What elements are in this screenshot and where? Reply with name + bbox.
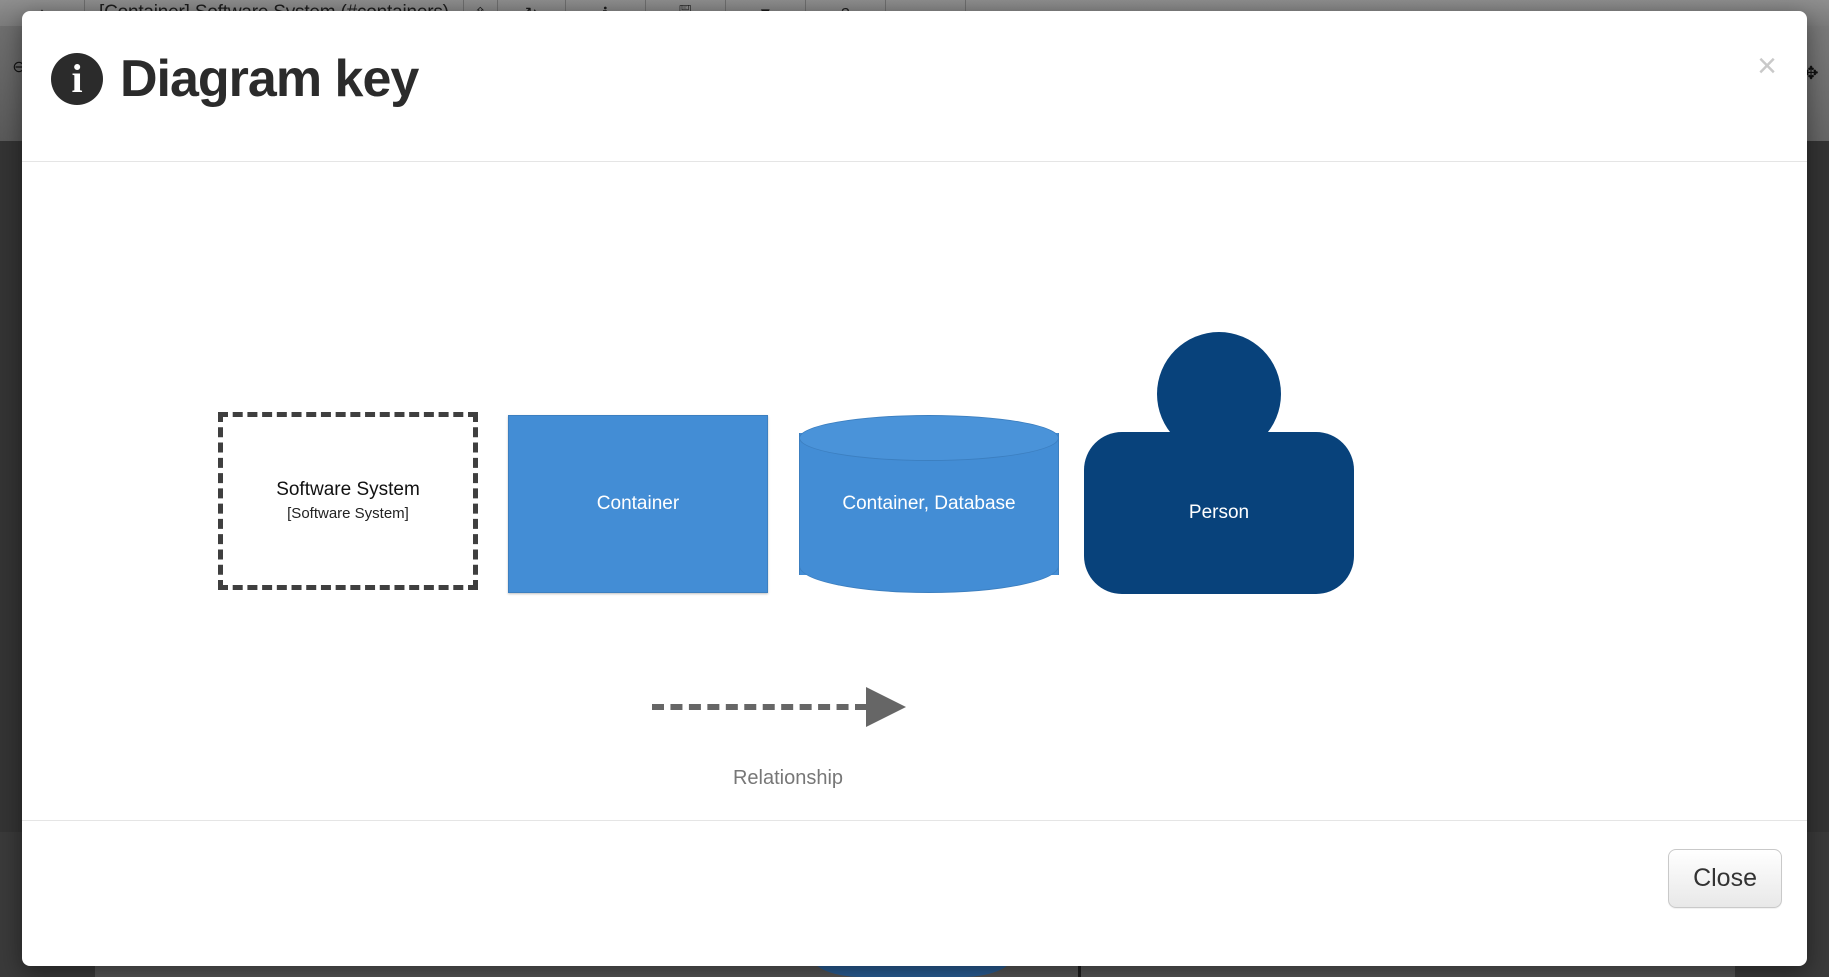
legend-database-label-wrap: Container, Database bbox=[799, 415, 1059, 593]
dialog-header: i Diagram key × bbox=[22, 11, 1807, 162]
dialog-title-group: i Diagram key bbox=[51, 53, 418, 105]
legend-item-container: Container bbox=[508, 415, 768, 593]
legend-item-person: Person bbox=[1084, 332, 1354, 594]
dialog-body: Software System [Software System] Contai… bbox=[22, 162, 1807, 821]
close-button[interactable]: Close bbox=[1668, 849, 1782, 908]
legend-item-software-system: Software System [Software System] bbox=[218, 412, 478, 590]
dialog-footer: Close bbox=[22, 821, 1807, 964]
legend-database-name: Container, Database bbox=[842, 492, 1015, 516]
relationship-arrowhead-icon bbox=[866, 687, 906, 727]
close-icon[interactable]: × bbox=[1749, 45, 1785, 87]
legend-person-label-wrap: Person bbox=[1084, 432, 1354, 594]
legend-software-system-type: [Software System] bbox=[287, 505, 409, 523]
legend-software-system-name: Software System bbox=[276, 479, 420, 502]
relationship-dashed-line bbox=[652, 704, 867, 710]
page-title: Diagram key bbox=[120, 53, 418, 105]
legend-item-container-database: Container, Database bbox=[799, 415, 1059, 593]
legend-relationship-label: Relationship bbox=[618, 767, 958, 790]
diagram-key-dialog: i Diagram key × Software System [Softwar… bbox=[22, 11, 1807, 966]
legend-container-name: Container bbox=[597, 492, 679, 516]
legend-person-name: Person bbox=[1189, 501, 1249, 525]
info-icon: i bbox=[51, 53, 103, 105]
